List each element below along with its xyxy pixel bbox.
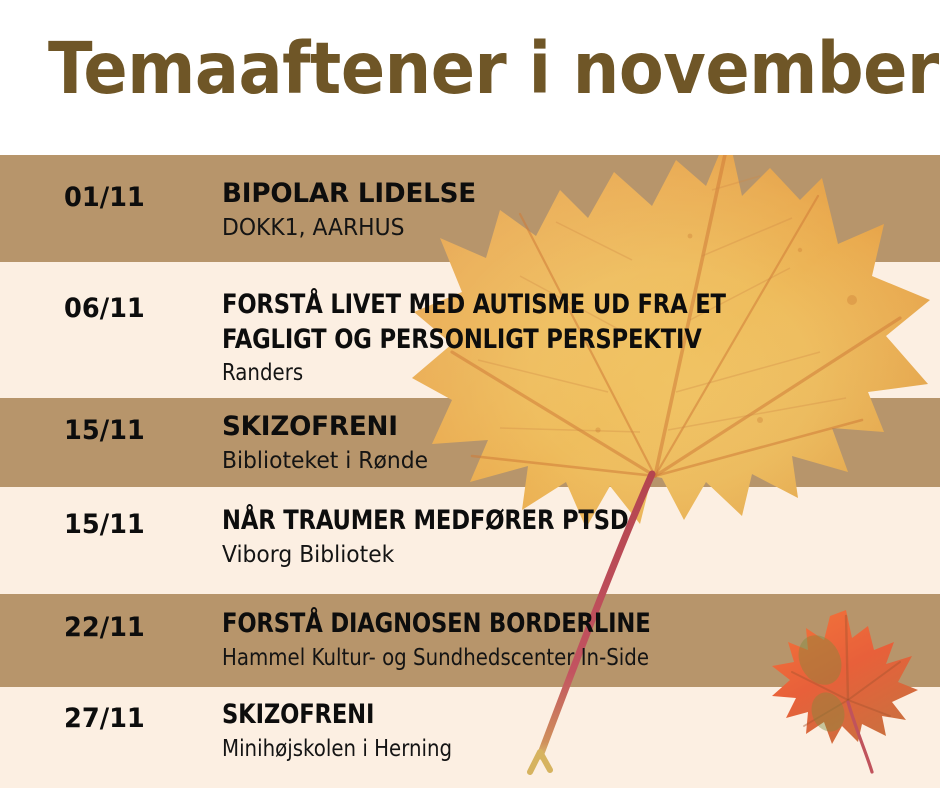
event-date: 15/11 xyxy=(64,509,145,540)
event-body: BIPOLAR LIDELSE DOKK1, AARHUS xyxy=(222,177,940,243)
event-title: FORSTÅ DIAGNOSEN BORDERLINE xyxy=(222,607,825,642)
event-date: 15/11 xyxy=(64,415,145,446)
poster-canvas: Temaaftener i november 01/11 BIPOLAR LID… xyxy=(0,0,940,788)
event-title: SKIZOFRENI xyxy=(222,698,825,733)
event-body: FORSTÅ DIAGNOSEN BORDERLINE Hammel Kultu… xyxy=(222,607,940,673)
poster-header: Temaaftener i november xyxy=(0,0,940,155)
event-title: NÅR TRAUMER MEDFØRER PTSD xyxy=(222,504,825,539)
event-venue: Minihøjskolen i Herning xyxy=(222,735,839,765)
page-title: Temaaftener i november xyxy=(48,32,939,107)
event-date: 01/11 xyxy=(64,182,145,213)
event-title: BIPOLAR LIDELSE xyxy=(222,177,918,212)
event-date: 27/11 xyxy=(64,703,145,734)
event-row: 06/11 FORSTÅ LIVET MED AUTISME UD FRA ET… xyxy=(0,262,940,398)
event-venue: DOKK1, AARHUS xyxy=(222,214,904,244)
event-venue: Hammel Kultur- og Sundhedscenter In-Side xyxy=(222,644,839,674)
event-body: SKIZOFRENI Minihøjskolen i Herning xyxy=(222,698,940,764)
event-body: FORSTÅ LIVET MED AUTISME UD FRA ET FAGLI… xyxy=(222,288,940,389)
event-body: NÅR TRAUMER MEDFØRER PTSD Viborg Bibliot… xyxy=(222,504,940,570)
event-row: 22/11 FORSTÅ DIAGNOSEN BORDERLINE Hammel… xyxy=(0,594,940,687)
event-venue: Viborg Bibliotek xyxy=(222,541,904,571)
event-body: SKIZOFRENI Biblioteket i Rønde xyxy=(222,410,940,476)
event-row: 15/11 SKIZOFRENI Biblioteket i Rønde xyxy=(0,398,940,487)
event-title: SKIZOFRENI xyxy=(222,410,918,445)
event-row: 01/11 BIPOLAR LIDELSE DOKK1, AARHUS xyxy=(0,155,940,262)
event-title-line-1: FORSTÅ LIVET MED AUTISME UD FRA ET xyxy=(222,288,825,323)
event-row: 15/11 NÅR TRAUMER MEDFØRER PTSD Viborg B… xyxy=(0,487,940,594)
event-date: 06/11 xyxy=(64,293,145,324)
event-row: 27/11 SKIZOFRENI Minihøjskolen i Herning xyxy=(0,687,940,788)
event-venue: Randers xyxy=(222,359,839,389)
event-venue: Biblioteket i Rønde xyxy=(222,447,904,477)
event-title-line-2: FAGLIGT OG PERSONLIGT PERSPEKTIV xyxy=(222,323,825,358)
event-date: 22/11 xyxy=(64,612,145,643)
